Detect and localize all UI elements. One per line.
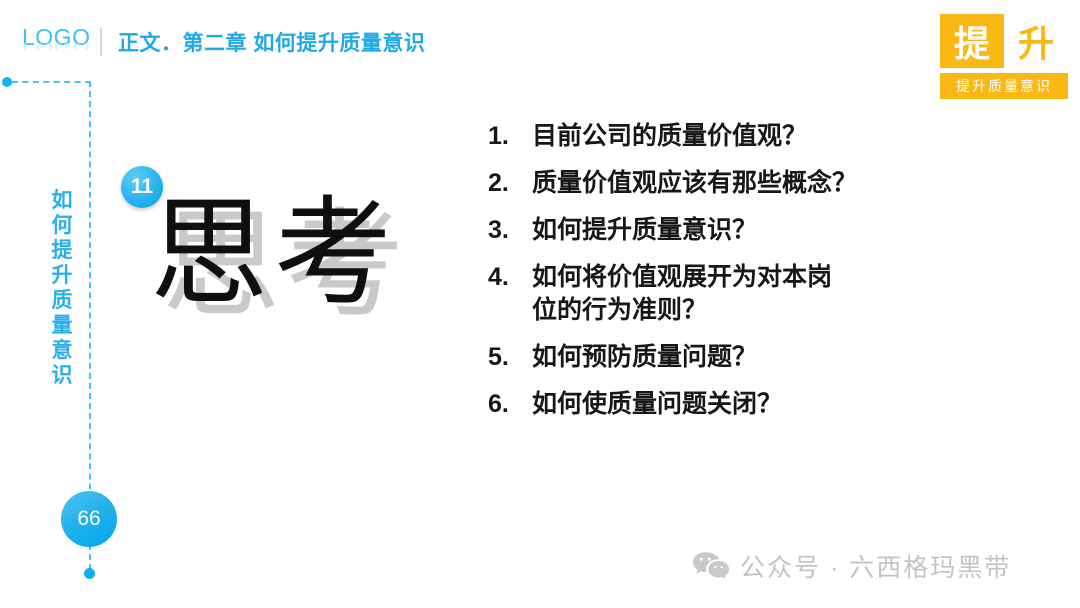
list-item-text: 如何预防质量问题？ [532, 341, 1008, 374]
logo-reflection: LOGO [22, 43, 88, 50]
list-item: 3. 如何提升质量意识？ [488, 214, 1008, 247]
list-item: 2. 质量价值观应该有那些概念？ [488, 167, 1008, 200]
list-item-number: 6. [488, 388, 532, 421]
list-item-number: 5. [488, 341, 532, 374]
corner-badge-subtitle: 提升质量意识 [940, 73, 1068, 99]
slide-header: LOGO LOGO 正文．第二章 如何提升质量意识 [22, 22, 425, 62]
corner-badge-char-a: 提 [940, 14, 1004, 68]
list-item: 1. 目前公司的质量价值观？ [488, 120, 1008, 153]
list-item: 6. 如何使质量问题关闭？ [488, 388, 1008, 421]
logo: LOGO LOGO [22, 24, 88, 60]
list-item-text: 质量价值观应该有那些概念？ [532, 167, 1008, 200]
corner-badge-title: 提 升 [940, 14, 1068, 68]
list-item-text: 如何将价值观展开为对本岗 位的行为准则？ [532, 261, 1008, 327]
list-item: 4. 如何将价值观展开为对本岗 位的行为准则？ [488, 261, 1008, 327]
list-item: 5. 如何预防质量问题？ [488, 341, 1008, 374]
list-item-number: 4. [488, 261, 532, 294]
slide-canvas: LOGO LOGO 正文．第二章 如何提升质量意识 提 升 提升质量意识 如何提… [0, 0, 1080, 608]
footer: 公众号 · 六西格玛黑带 [692, 548, 1011, 584]
footer-text: 公众号 · 六西格玛黑带 [740, 548, 1011, 584]
wechat-icon [692, 551, 730, 581]
big-title-group: 思考 思考 [150, 188, 450, 328]
corner-badge-char-b: 升 [1004, 14, 1068, 68]
list-item-text: 如何使质量问题关闭？ [532, 388, 1008, 421]
rail-dot-top-icon [2, 77, 12, 87]
page-number-badge: 66 [61, 491, 117, 547]
list-item-text: 如何提升质量意识？ [532, 214, 1008, 247]
rail-dot-bottom-icon [84, 568, 95, 579]
big-title-text: 思考 [150, 188, 398, 318]
corner-badge: 提 升 提升质量意识 [940, 14, 1068, 99]
step-number-badge: 11 [121, 166, 163, 208]
list-item-number: 2. [488, 167, 532, 200]
list-item-text: 目前公司的质量价值观？ [532, 120, 1008, 153]
question-list: 1. 目前公司的质量价值观？ 2. 质量价值观应该有那些概念？ 3. 如何提升质… [488, 120, 1008, 435]
list-item-number: 1. [488, 120, 532, 153]
rail-horizontal-dashed-line [12, 81, 91, 83]
header-divider [100, 28, 102, 56]
header-title: 正文．第二章 如何提升质量意识 [118, 27, 425, 57]
sidebar-vertical-label: 如何提升质量意识 [48, 188, 76, 388]
list-item-number: 3. [488, 214, 532, 247]
